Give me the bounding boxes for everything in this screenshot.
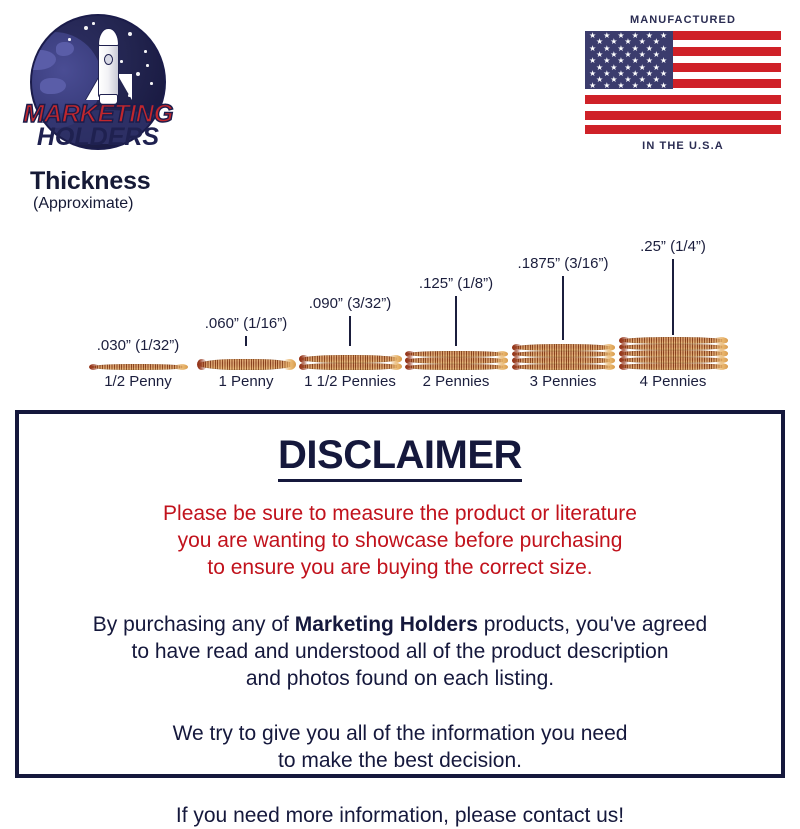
rocket-nose-icon (98, 28, 119, 46)
flag-star-icon: ★ (660, 57, 667, 65)
disclaimer-p4-line1: If you need more information, please con… (59, 802, 741, 829)
flag-star-icon: ★ (624, 64, 631, 72)
coin-edge (620, 363, 726, 370)
flag-star-icon: ★ (624, 51, 631, 59)
flag-star-icon: ★ (660, 32, 667, 40)
flag-star-icon: ★ (589, 82, 596, 90)
star-icon (92, 22, 95, 25)
disclaimer-title-text: DISCLAIMER (278, 433, 522, 482)
coin-leader-line (245, 336, 247, 346)
disclaimer-title: DISCLAIMER (19, 433, 781, 478)
disclaimer-p2-line2: to have read and understood all of the p… (59, 638, 741, 665)
thickness-coin-chart: .030” (1/32”)1/2 Penny.060” (1/16”)1 Pen… (0, 200, 800, 390)
star-icon (128, 32, 132, 36)
disclaimer-p1-line3: to ensure you are buying the correct siz… (59, 554, 741, 581)
disclaimer-p3-line2: to make the best decision. (59, 747, 741, 774)
flag-star-icon: ★ (624, 38, 631, 46)
flag-star-icon: ★ (660, 70, 667, 78)
badge-label-bottom: IN THE U.S.A (585, 140, 781, 152)
disclaimer-p2-line1: By purchasing any of Marketing Holders p… (59, 611, 741, 638)
star-icon (144, 50, 147, 53)
coin-name-label: 4 Pennies (640, 373, 707, 390)
flag-stripe (585, 111, 781, 120)
usa-flag-icon: ★★★★★★★★★★★★★★★★★★★★★★★★★★★★★★★★★★★★★★★★… (585, 31, 781, 134)
flag-star-icon: ★ (610, 38, 617, 46)
flag-stripe (585, 125, 781, 134)
disclaimer-p2-pre: By purchasing any of (93, 613, 295, 636)
flag-star-icon: ★ (660, 45, 667, 53)
coin-leader-line (562, 276, 564, 340)
flag-star-icon: ★ (596, 38, 603, 46)
flag-star-icon: ★ (617, 82, 624, 90)
flag-star-icon: ★ (603, 82, 610, 90)
flag-star-icon: ★ (610, 76, 617, 84)
flag-star-icon: ★ (639, 51, 646, 59)
coin-group: .25” (1/4”)4 Pennies (583, 200, 763, 390)
disclaimer-paragraph-2: By purchasing any of Marketing Holders p… (19, 611, 781, 692)
coin-leader-line (349, 316, 351, 346)
flag-star-icon: ★ (596, 51, 603, 59)
flag-canton: ★★★★★★★★★★★★★★★★★★★★★★★★★★★★★★★★★★★★★★★★… (585, 31, 673, 89)
flag-star-icon: ★ (610, 64, 617, 72)
disclaimer-paragraph-4: If you need more information, please con… (19, 802, 781, 829)
disclaimer-p3-line1: We try to give you all of the informatio… (59, 720, 741, 747)
disclaimer-p1-line2: you are wanting to showcase before purch… (59, 527, 741, 554)
flag-star-icon: ★ (653, 38, 660, 46)
flag-star-icon: ★ (596, 64, 603, 72)
badge-label-top: MANUFACTURED (585, 14, 781, 26)
flag-star-icon: ★ (624, 76, 631, 84)
star-icon (136, 72, 140, 76)
flag-star-icon: ★ (653, 51, 660, 59)
flag-star-icon: ★ (610, 51, 617, 59)
flag-star-icon: ★ (639, 64, 646, 72)
disclaimer-p2-line3: and photos found on each listing. (59, 665, 741, 692)
flag-stripe (585, 95, 781, 104)
coin-leader-line (455, 296, 457, 346)
coin-edge (620, 344, 726, 351)
disclaimer-paragraph-3: We try to give you all of the informatio… (19, 720, 781, 774)
coin-stack (620, 337, 726, 370)
star-icon (68, 38, 71, 41)
coin-measurement-label: .25” (1/4”) (640, 238, 706, 255)
flag-star-icon: ★ (639, 38, 646, 46)
star-icon (150, 82, 153, 85)
disclaimer-brand-name: Marketing Holders (295, 613, 478, 636)
flag-star-icon: ★ (660, 82, 667, 90)
coin-leader-line (672, 259, 674, 335)
made-in-usa-badge: MANUFACTURED ★★★★★★★★★★★★★★★★★★★★★★★★★★★… (585, 12, 781, 157)
flag-star-icon: ★ (646, 82, 653, 90)
rocket-body-icon (98, 38, 119, 98)
rocket-fin-right-icon (117, 74, 132, 100)
star-icon (84, 26, 88, 30)
coin-edge (620, 357, 726, 364)
logo-wordmark-line2: HOLDERS (22, 125, 174, 150)
star-icon (120, 60, 123, 63)
disclaimer-p2-post: products, you've agreed (478, 613, 707, 636)
flag-star-icon: ★ (653, 76, 660, 84)
flag-star-icon: ★ (639, 76, 646, 84)
coin-edge (620, 350, 726, 357)
flag-star-icon: ★ (632, 82, 639, 90)
disclaimer-p1-line1: Please be sure to measure the product or… (59, 500, 741, 527)
rocket-window-icon (104, 54, 113, 65)
brand-logo: MARKETING HOLDERS (22, 12, 174, 160)
page-title: Thickness (30, 167, 150, 196)
disclaimer-paragraph-1: Please be sure to measure the product or… (19, 500, 781, 581)
coin-edge (620, 337, 726, 344)
flag-star-icon: ★ (653, 64, 660, 72)
flag-star-icon: ★ (596, 76, 603, 84)
star-icon (146, 64, 149, 67)
disclaimer-box: DISCLAIMER Please be sure to measure the… (15, 410, 785, 778)
